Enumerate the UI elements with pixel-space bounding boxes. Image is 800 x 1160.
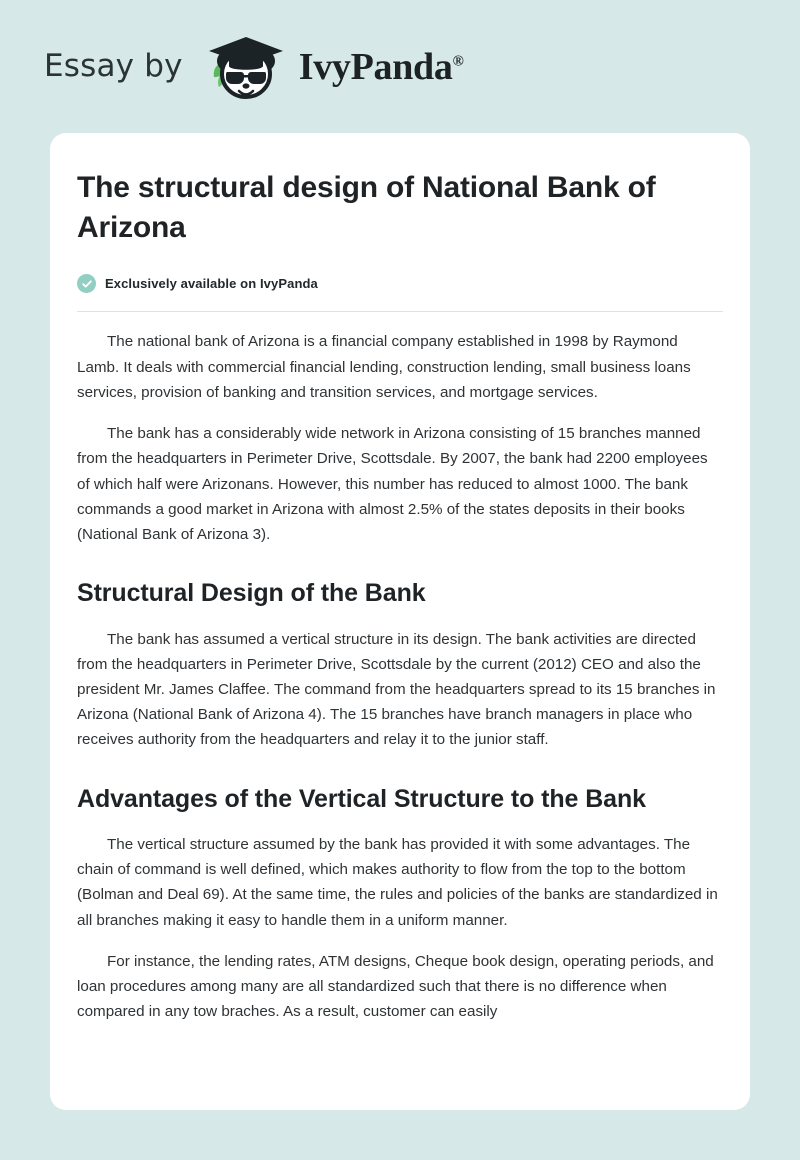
ivypanda-brand-lockup[interactable]: IvyPanda®: [201, 31, 464, 103]
panda-graduate-logo-icon: [201, 31, 293, 103]
body-paragraph: For instance, the lending rates, ATM des…: [77, 933, 723, 1025]
essay-card: The structural design of National Bank o…: [50, 133, 750, 1110]
site-header: Essay by: [0, 0, 800, 133]
essay-body: The national bank of Arizona is a financ…: [77, 312, 723, 1024]
registered-trademark-icon: ®: [453, 53, 464, 69]
essay-content: The structural design of National Bank o…: [77, 133, 723, 1025]
check-circle-icon: [77, 274, 96, 293]
brand-name-text: IvyPanda: [299, 46, 453, 88]
body-paragraph: The bank has assumed a vertical structur…: [77, 610, 723, 753]
section-heading: Structural Design of the Bank: [77, 547, 723, 609]
body-paragraph: The national bank of Arizona is a financ…: [77, 312, 723, 405]
brand-name: IvyPanda®: [299, 48, 464, 86]
exclusivity-badge: Exclusively available on IvyPanda: [77, 274, 723, 293]
body-paragraph: The vertical structure assumed by the ba…: [77, 815, 723, 933]
body-paragraph: The bank has a considerably wide network…: [77, 405, 723, 547]
page-title: The structural design of National Bank o…: [77, 133, 723, 248]
section-heading: Advantages of the Vertical Structure to …: [77, 753, 723, 815]
exclusivity-label: Exclusively available on IvyPanda: [105, 276, 318, 291]
essay-by-label: Essay by: [44, 51, 183, 82]
